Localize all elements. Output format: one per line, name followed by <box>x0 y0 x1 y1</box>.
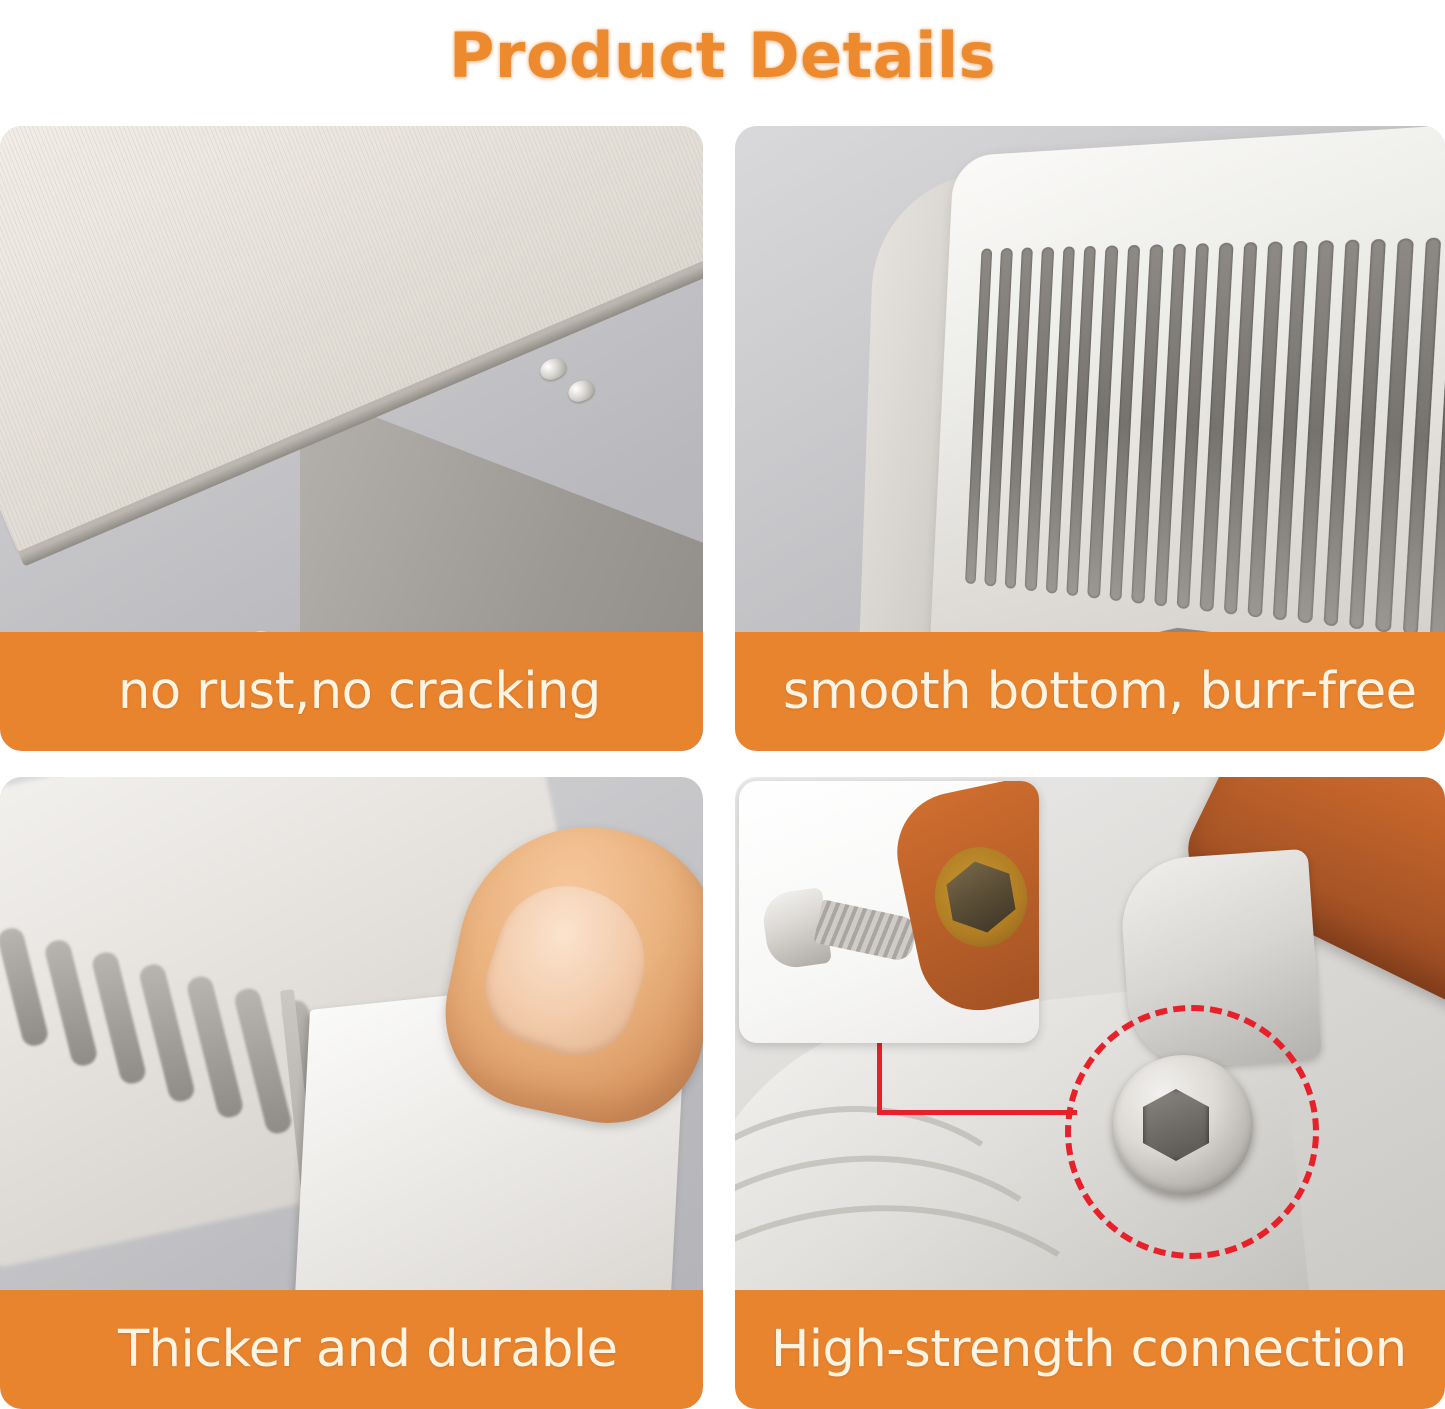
leader-line-horizontal <box>877 1110 1077 1115</box>
feature-panel-smooth-bottom[interactable]: smooth bottom, burr-free <box>735 126 1445 751</box>
feature-panel-no-rust[interactable]: no rust,no cracking <box>0 126 703 751</box>
leader-line-vertical <box>877 1035 882 1115</box>
red-leader-line <box>877 1035 1077 1115</box>
feature-panel-high-strength-connection[interactable]: High-strength connection <box>735 777 1445 1409</box>
vent-slot-group <box>965 236 1445 642</box>
red-dashed-highlight-circle <box>1065 1005 1319 1259</box>
caption-text: no rust,no cracking <box>118 666 601 717</box>
feature-panel-grid: no rust,no cracking <box>0 126 1445 1409</box>
caption-bar: no rust,no cracking <box>0 632 703 751</box>
caption-bar: Thicker and durable <box>0 1290 703 1409</box>
caption-bar: smooth bottom, burr-free <box>735 632 1445 751</box>
caption-bar: High-strength connection <box>735 1290 1445 1409</box>
caption-text: Thicker and durable <box>118 1324 617 1375</box>
page-title: Product Details <box>449 19 996 92</box>
inset-callout-panel <box>739 781 1039 1043</box>
product-details-infographic: Product Details no rust,no cracking <box>0 0 1445 1409</box>
feature-panel-thicker-durable[interactable]: Thicker and durable <box>0 777 703 1409</box>
caption-text: High-strength connection <box>771 1324 1407 1375</box>
caption-text: smooth bottom, burr-free <box>783 666 1417 717</box>
page-title-bar: Product Details <box>0 0 1445 110</box>
